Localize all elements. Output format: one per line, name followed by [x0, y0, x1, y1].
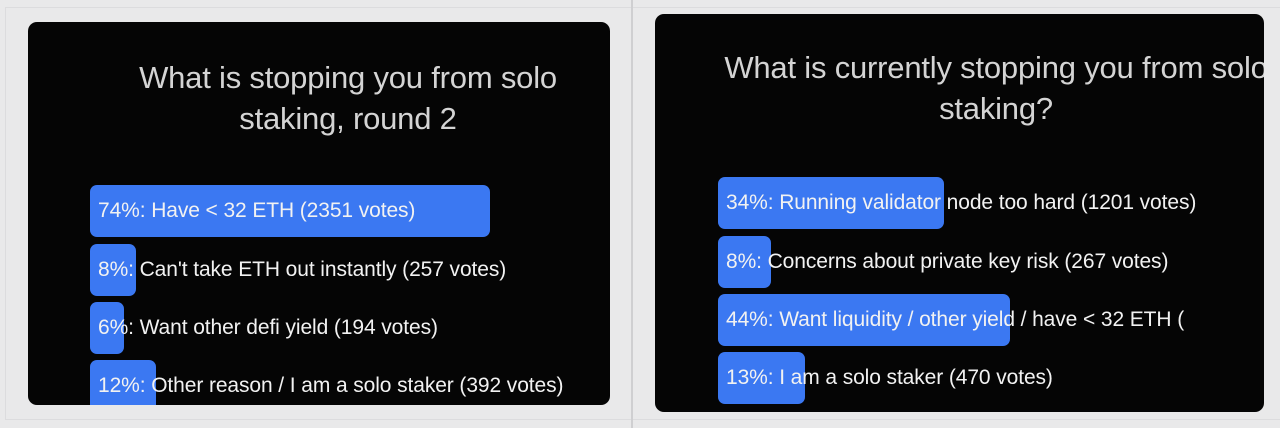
poll-bars: 74%: Have < 32 ETH (2351 votes) 8%: Can'… — [28, 22, 610, 405]
poll-option-label: 8%: Can't take ETH out instantly (257 vo… — [98, 244, 506, 296]
poll-option-row[interactable]: 8%: Concerns about private key risk (267… — [655, 236, 1264, 288]
pane-divider — [631, 0, 633, 428]
top-hairline — [6, 7, 1280, 8]
poll-option-row[interactable]: 13%: I am a solo staker (470 votes) — [655, 352, 1264, 404]
poll-option-label: 74%: Have < 32 ETH (2351 votes) — [98, 185, 415, 237]
poll-option-row[interactable]: 44%: Want liquidity / other yield / have… — [655, 294, 1264, 346]
screenshot-root: What is stopping you from solo staking, … — [0, 0, 1280, 428]
poll-option-label: 13%: I am a solo staker (470 votes) — [726, 352, 1053, 404]
poll-option-label: 34%: Running validator node too hard (12… — [726, 177, 1196, 229]
poll-option-row[interactable]: 12%: Other reason / I am a solo staker (… — [28, 360, 610, 405]
bottom-hairline — [6, 419, 1280, 420]
poll-option-row[interactable]: 8%: Can't take ETH out instantly (257 vo… — [28, 244, 610, 296]
poll-option-row[interactable]: 34%: Running validator node too hard (12… — [655, 177, 1264, 229]
poll-option-label: 6%: Want other defi yield (194 votes) — [98, 302, 438, 354]
poll-card-current: What is currently stopping you fr​om sol… — [655, 14, 1264, 412]
poll-option-label: 44%: Want liquidity / other yield / have… — [726, 294, 1184, 346]
poll-option-label: 8%: Concerns about private key risk (267… — [726, 236, 1168, 288]
poll-option-label: 12%: Other reason / I am a solo staker (… — [98, 360, 563, 405]
poll-option-row[interactable]: 74%: Have < 32 ETH (2351 votes) — [28, 185, 610, 237]
poll-bars: 34%: Running validator node too hard (12… — [655, 14, 1264, 412]
poll-card-round-2: What is stopping you from solo staking, … — [28, 22, 610, 405]
poll-option-row[interactable]: 6%: Want other defi yield (194 votes) — [28, 302, 610, 354]
left-hairline — [5, 7, 6, 420]
